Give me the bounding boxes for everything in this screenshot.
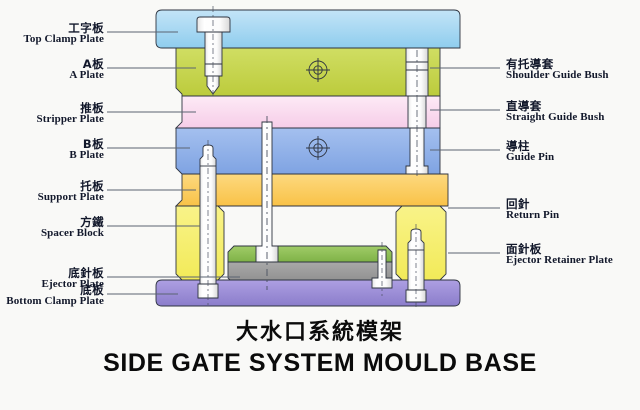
- label-shoulder-guide-bush: 有托導套 Shoulder Guide Bush: [506, 58, 609, 82]
- label-en: B Plate: [69, 150, 104, 162]
- label-en: Shoulder Guide Bush: [506, 70, 609, 82]
- label-ejector-retainer-plate: 面針板 Ejector Retainer Plate: [506, 243, 613, 267]
- label-en: Ejector Retainer Plate: [506, 255, 613, 267]
- label-en: Stripper Plate: [37, 114, 105, 126]
- label-en: Guide Pin: [506, 152, 554, 164]
- title-chinese: 大水口系統模架: [0, 314, 640, 346]
- label-en: Straight Guide Bush: [506, 112, 604, 124]
- label-bottom-clamp-plate: 底板 Bottom Clamp Plate: [6, 284, 104, 308]
- label-en: Support Plate: [38, 192, 104, 204]
- return-pin-left: [198, 140, 218, 306]
- label-en: Top Clamp Plate: [23, 34, 104, 46]
- label-spacer-block: 方鐵 Spacer Block: [41, 216, 104, 240]
- title-block: 大水口系統模架 SIDE GATE SYSTEM MOULD BASE: [0, 314, 640, 378]
- title-english: SIDE GATE SYSTEM MOULD BASE: [0, 349, 640, 378]
- label-support-plate: 托板 Support Plate: [38, 180, 104, 204]
- label-en: Return Pin: [506, 210, 559, 222]
- label-en: Spacer Block: [41, 228, 104, 240]
- label-en: A Plate: [69, 70, 104, 82]
- label-top-clamp-plate: 工字板 Top Clamp Plate: [23, 22, 104, 46]
- label-stripper-plate: 推板 Stripper Plate: [37, 102, 105, 126]
- plate-ejector: [228, 246, 392, 262]
- diagram-root: 工字板 Top Clamp Plate A板 A Plate 推板 Stripp…: [0, 0, 640, 410]
- plate-support: [176, 174, 448, 206]
- label-a-plate: A板 A Plate: [69, 58, 104, 82]
- label-en: Bottom Clamp Plate: [6, 296, 104, 308]
- label-straight-guide-bush: 直導套 Straight Guide Bush: [506, 100, 604, 124]
- label-guide-pin: 導柱 Guide Pin: [506, 140, 554, 164]
- plate-stripper: [176, 96, 440, 128]
- label-b-plate: B板 B Plate: [69, 138, 104, 162]
- label-return-pin: 回針 Return Pin: [506, 198, 559, 222]
